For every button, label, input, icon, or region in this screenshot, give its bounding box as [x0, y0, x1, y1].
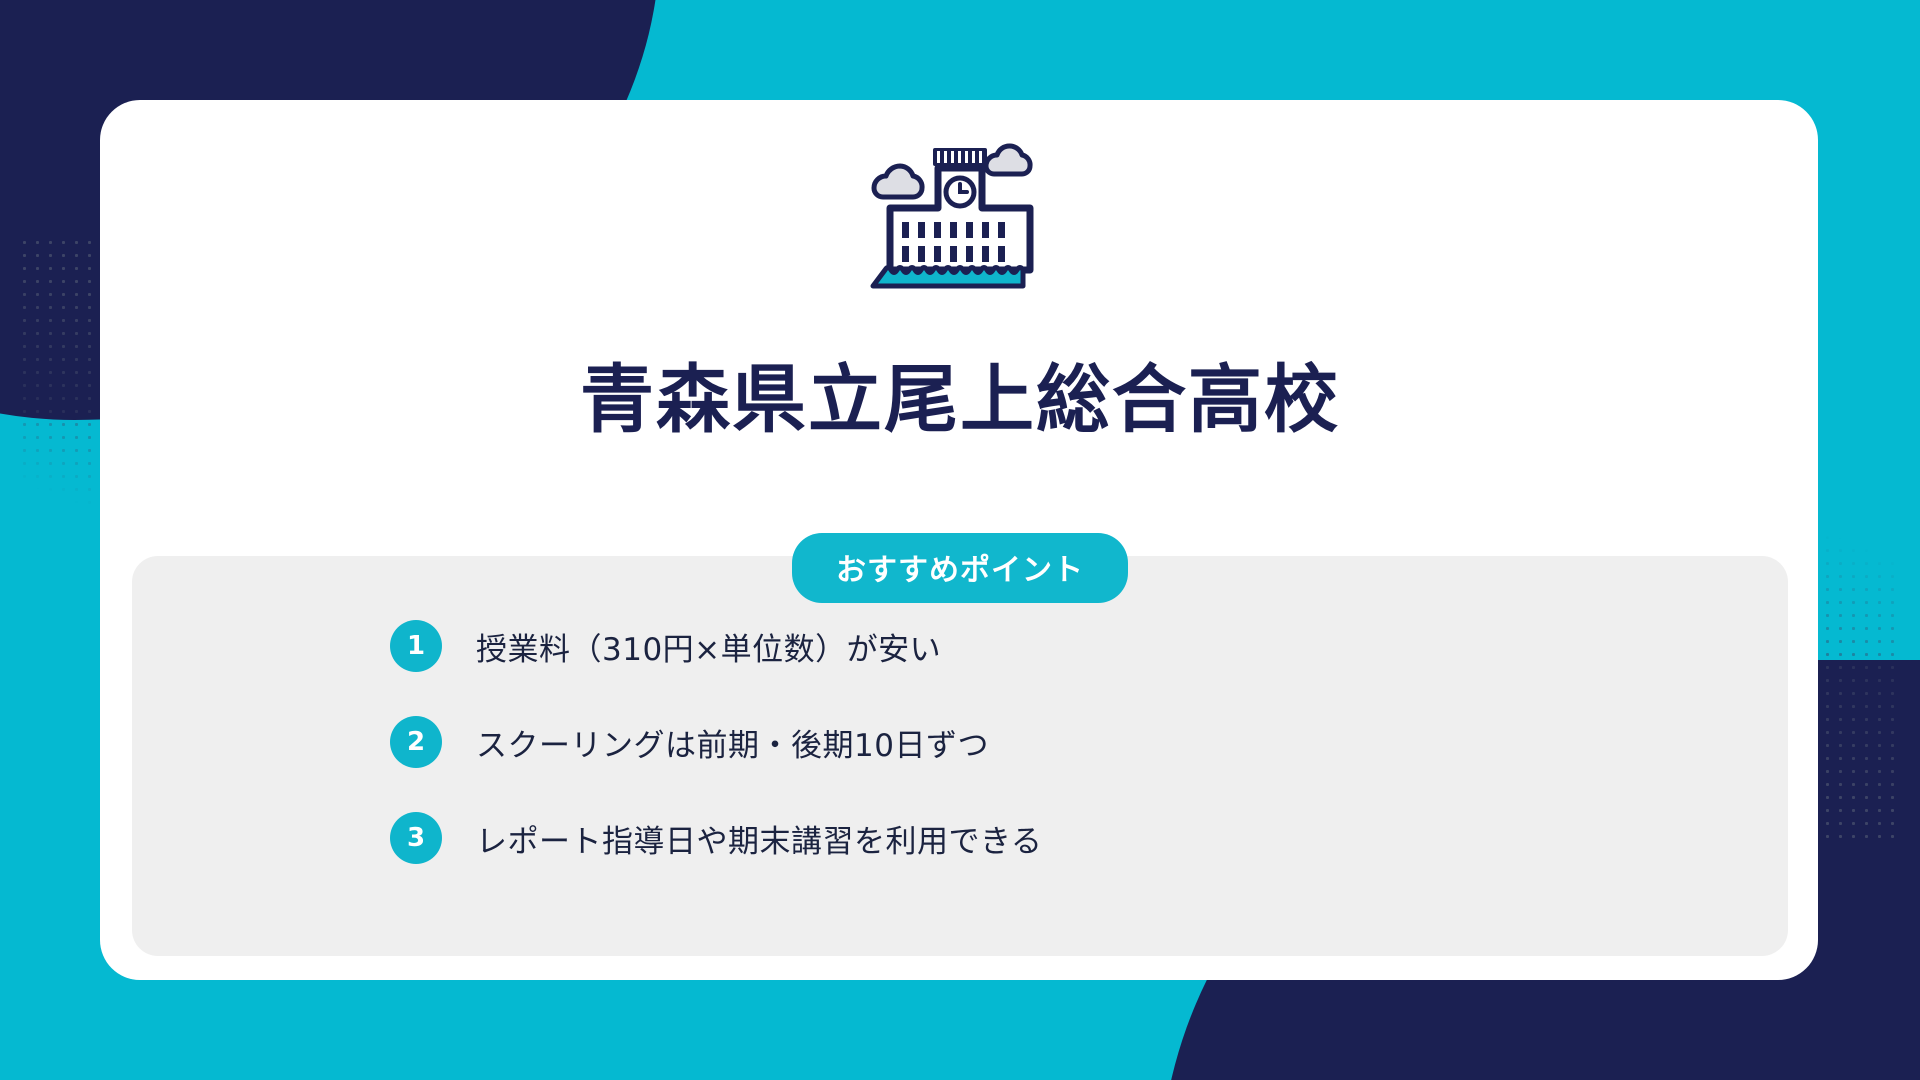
slide-canvas: 青森県立尾上総合高校 おすすめポイント 1 授業料（310円×単位数）が安い 2…	[0, 0, 1920, 1080]
point-text: レポート指導日や期末講習を利用できる	[476, 816, 1042, 861]
school-icon-container	[0, 140, 1920, 290]
point-number-badge: 1	[390, 620, 442, 672]
point-text: スクーリングは前期・後期10日ずつ	[476, 720, 989, 765]
school-building-icon	[860, 140, 1060, 290]
page-title: 青森県立尾上総合高校	[0, 360, 1920, 441]
list-item: 3 レポート指導日や期末講習を利用できる	[390, 812, 1042, 864]
list-item: 2 スクーリングは前期・後期10日ずつ	[390, 716, 1042, 768]
point-number-badge: 3	[390, 812, 442, 864]
list-item: 1 授業料（310円×単位数）が安い	[390, 620, 1042, 672]
recommended-points-badge: おすすめポイント	[792, 533, 1128, 603]
points-list: 1 授業料（310円×単位数）が安い 2 スクーリングは前期・後期10日ずつ 3…	[390, 620, 1042, 864]
point-text: 授業料（310円×単位数）が安い	[476, 624, 941, 669]
point-number-badge: 2	[390, 716, 442, 768]
